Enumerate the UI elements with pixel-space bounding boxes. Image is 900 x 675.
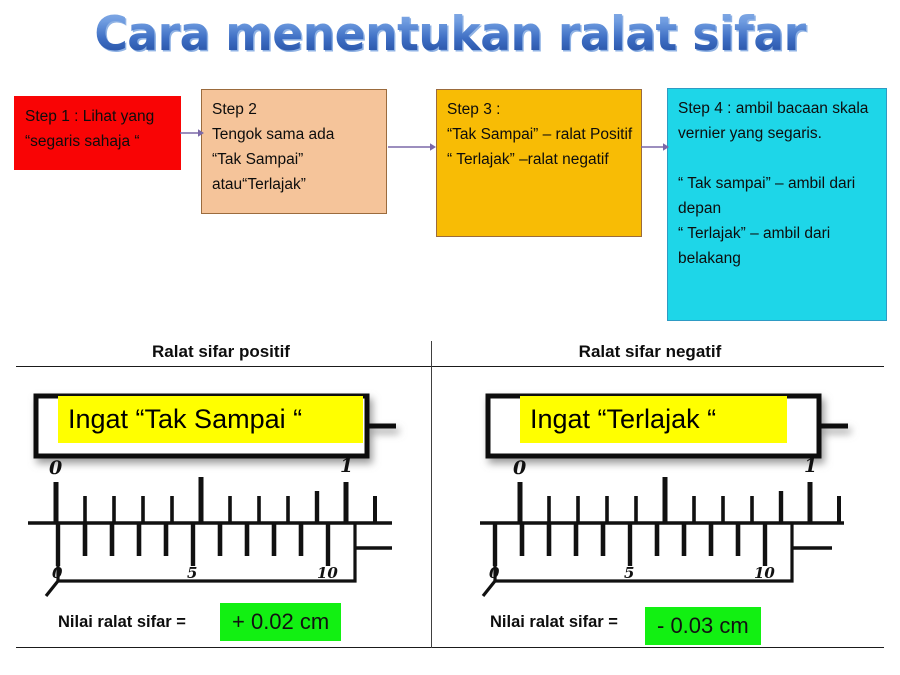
right-arrow-icon bbox=[388, 140, 436, 154]
step-4-box: Step 4 : ambil bacaan skala vernier yang… bbox=[667, 88, 887, 321]
panel-divider-vertical bbox=[431, 341, 432, 648]
step-3-box: Step 3 : “Tak Sampai” – ralat Positif “ … bbox=[436, 89, 642, 237]
vernier-scale-label-5: 5 bbox=[624, 564, 634, 582]
main-scale-labels: 0 1 bbox=[49, 455, 353, 479]
page-title: Cara menentukan ralat sifar bbox=[14, 4, 887, 66]
callout-positive: Ingat “Tak Sampai “ bbox=[58, 396, 363, 443]
main-scale-label-0: 0 bbox=[513, 457, 526, 479]
main-scale-label-1: 1 bbox=[340, 455, 353, 477]
vernier-scale-label-5: 5 bbox=[187, 564, 197, 582]
vernier-scale-labels: 0 5 10 bbox=[52, 564, 338, 582]
result-row-negative: Nilai ralat sifar = - 0.03 cm bbox=[480, 605, 860, 641]
main-scale-ticks bbox=[56, 477, 375, 523]
panel-divider-bottom bbox=[16, 647, 884, 648]
result-label-negative: Nilai ralat sifar = bbox=[490, 613, 618, 632]
result-label-positive: Nilai ralat sifar = bbox=[58, 613, 186, 632]
result-value-negative: - 0.03 cm bbox=[645, 607, 761, 645]
main-scale-label-1: 1 bbox=[804, 455, 817, 477]
result-value-positive: + 0.02 cm bbox=[220, 603, 341, 641]
right-arrow-icon bbox=[641, 140, 669, 154]
vernier-scale-label-10: 10 bbox=[317, 564, 338, 582]
step-1-box: Step 1 : Lihat yang “segaris sahaja “ bbox=[14, 96, 181, 170]
step-2-box: Step 2 Tengok sama ada “Tak Sampai” atau… bbox=[201, 89, 387, 214]
vernier-scale-label-10: 10 bbox=[754, 564, 775, 582]
result-row-positive: Nilai ralat sifar = + 0.02 cm bbox=[40, 605, 400, 641]
main-scale-label-0: 0 bbox=[49, 457, 62, 479]
panel-divider-top bbox=[16, 366, 884, 367]
vernier-scale-label-0: 0 bbox=[52, 564, 63, 582]
callout-negative: Ingat “Terlajak “ bbox=[520, 396, 787, 443]
right-arrow-icon bbox=[180, 126, 204, 140]
vernier-scale-label-0: 0 bbox=[489, 564, 500, 582]
main-scale-ticks bbox=[520, 477, 839, 523]
panel-heading-negative: Ralat sifar negatif bbox=[440, 342, 860, 362]
vernier-scale-ticks bbox=[495, 523, 765, 566]
vernier-scale-ticks bbox=[58, 523, 328, 566]
panel-heading-positive: Ralat sifar positif bbox=[16, 342, 426, 362]
main-scale-labels: 0 1 bbox=[513, 455, 817, 479]
vernier-scale-labels: 0 5 10 bbox=[489, 564, 775, 582]
